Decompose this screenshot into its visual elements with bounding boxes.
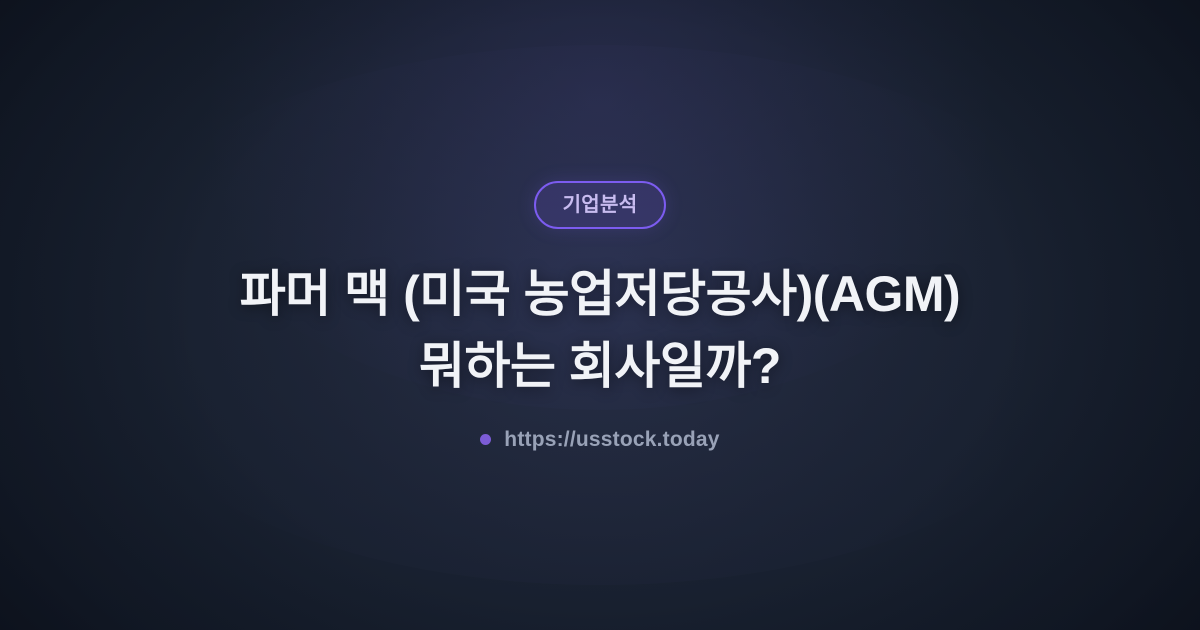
page-title: 파머 맥 (미국 농업저당공사)(AGM) 뭐하는 회사일까? — [240, 258, 960, 402]
site-url-text: https://usstock.today — [504, 429, 719, 450]
page-title-line-2: 뭐하는 회사일까? — [240, 330, 960, 402]
page-title-line-1: 파머 맥 (미국 농업저당공사)(AGM) — [240, 258, 960, 330]
share-card: 기업분석 파머 맥 (미국 농업저당공사)(AGM) 뭐하는 회사일까? htt… — [0, 0, 1200, 630]
card-content: 기업분석 파머 맥 (미국 농업저당공사)(AGM) 뭐하는 회사일까? htt… — [0, 0, 1200, 630]
category-badge: 기업분석 — [534, 181, 667, 229]
site-url-row: https://usstock.today — [480, 429, 719, 450]
category-badge-label: 기업분석 — [563, 195, 638, 215]
bullet-dot-icon — [480, 434, 491, 445]
